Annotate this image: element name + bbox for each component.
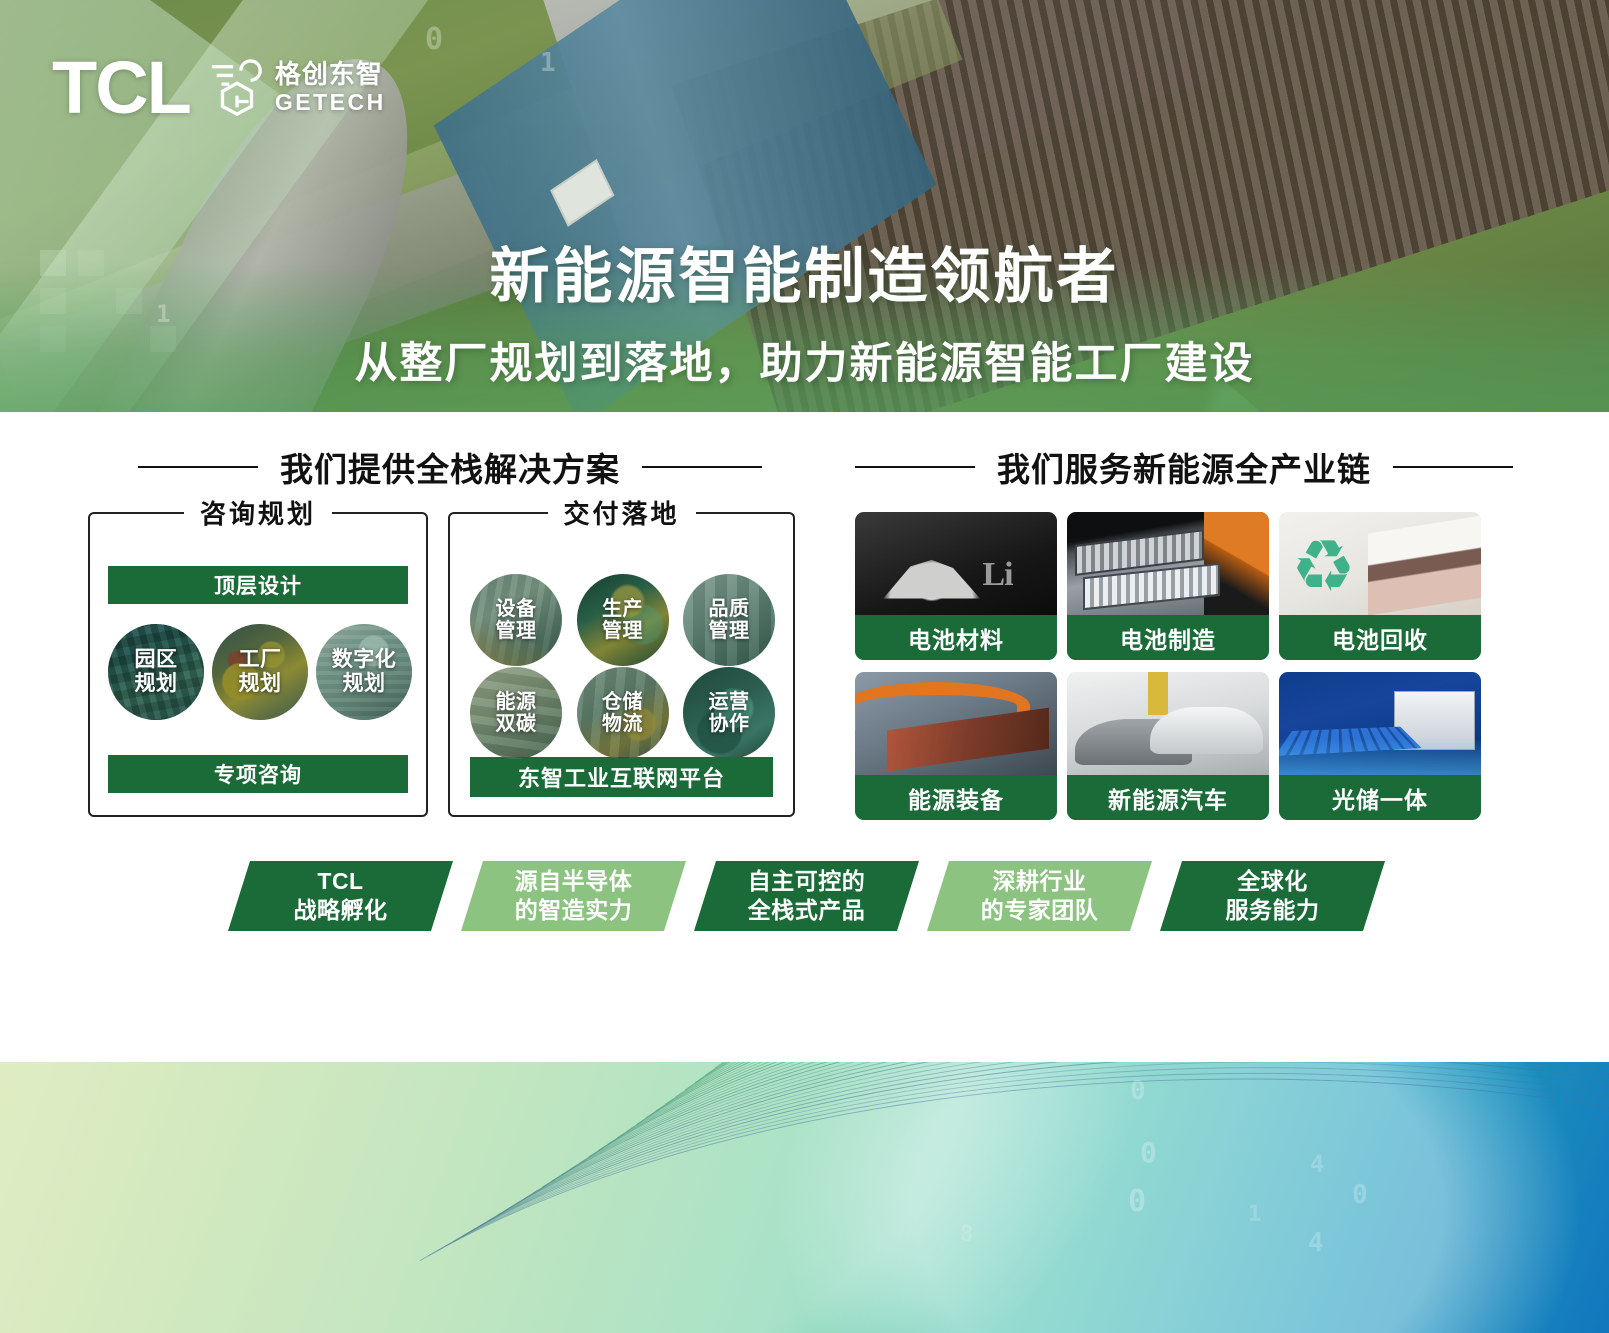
circle-production-management[interactable]: 生产 管理 [577, 574, 669, 666]
ribbon-expert-team-line1: 深耕行业 [993, 867, 1087, 896]
industry-tile-new-energy-vehicle[interactable]: 新能源汽车 [1067, 672, 1269, 820]
advantage-ribbon-row: TCL 战略孵化 源自半导体 的智造实力 自主可控的 全栈式产品 深耕行业 的专… [228, 861, 1385, 931]
industry-tile-battery-manufacturing-caption: 电池制造 [1067, 615, 1269, 660]
heading-rule-right [642, 466, 762, 468]
consulting-circle-row: 园区 规划 工厂 规划 数字化 规划 [108, 624, 412, 720]
ribbon-semiconductor-origin-line2: 的智造实力 [515, 896, 633, 925]
card-title-delivery: 交付落地 [547, 494, 695, 531]
circle-quality-management[interactable]: 品质 管理 [683, 574, 775, 666]
circle-park-planning[interactable]: 园区 规划 [108, 624, 204, 720]
circle-factory-planning[interactable]: 工厂 规划 [212, 624, 308, 720]
top-design-bar[interactable]: 顶层设计 [108, 566, 408, 604]
circle-production-management-line2: 管理 [602, 620, 643, 642]
delivery-circle-row-1: 设备 管理 生产 管理 品质 管理 [470, 574, 775, 666]
circle-digital-planning-line1: 数字化 [332, 648, 397, 671]
hero-banner: 0 1 1 TCL [0, 0, 1609, 412]
heading-rule-left [138, 466, 258, 468]
battery-manufacturing-photo [1067, 512, 1269, 615]
industry-tile-battery-recycling[interactable]: ♻ 电池回收 [1279, 512, 1481, 660]
circle-energy-dual-carbon-line1: 能源 [496, 691, 537, 713]
industrial-internet-platform-bar[interactable]: 东智工业互联网平台 [470, 757, 773, 797]
special-consulting-bar[interactable]: 专项咨询 [108, 755, 408, 793]
poster-page: 0 1 1 TCL [0, 0, 1609, 1333]
battery-material-photo [855, 512, 1057, 615]
solution-card-delivery: 交付落地 设备 管理 生产 管理 品质 管理 [448, 512, 795, 817]
heading-rule-left [855, 466, 975, 468]
industry-tile-energy-equipment-caption: 能源装备 [855, 775, 1057, 820]
ribbon-global-service-line1: 全球化 [1237, 867, 1308, 896]
circle-equipment-management[interactable]: 设备 管理 [470, 574, 562, 666]
circle-operations-collaboration-line2: 协作 [709, 713, 750, 735]
circle-factory-planning-line1: 工厂 [239, 648, 282, 671]
heading-rule-right [1393, 466, 1513, 468]
circle-digital-planning-line2: 规划 [343, 672, 386, 695]
tcl-logo-text: TCL [52, 54, 190, 122]
circle-warehouse-logistics-line1: 仓储 [602, 691, 643, 713]
ribbon-tcl-incubation-line2: 战略孵化 [294, 896, 388, 925]
circle-operations-collaboration[interactable]: 运营 协作 [683, 667, 775, 759]
getech-logo-cn: 格创东智 [275, 61, 386, 88]
industry-tile-battery-material-caption: 电池材料 [855, 615, 1057, 660]
circle-production-management-line1: 生产 [602, 598, 643, 620]
ribbon-semiconductor-origin[interactable]: 源自半导体 的智造实力 [461, 861, 686, 931]
getech-hex-g-logo-icon [208, 57, 266, 119]
hero-title: 新能源智能制造领航者 [0, 228, 1609, 315]
industry-tile-solar-storage[interactable]: 光储一体 [1279, 672, 1481, 820]
ribbon-tcl-incubation-line1: TCL [317, 867, 363, 896]
industry-tile-battery-recycling-caption: 电池回收 [1279, 615, 1481, 660]
industry-tile-solar-storage-caption: 光储一体 [1279, 775, 1481, 820]
circle-quality-management-line1: 品质 [709, 598, 750, 620]
circle-factory-planning-line2: 规划 [239, 672, 282, 695]
circle-equipment-management-line2: 管理 [496, 620, 537, 642]
hero-subtitle: 从整厂规划到落地，助力新能源智能工厂建设 [0, 329, 1609, 391]
footer-decorative-band: 0 0 0 4 0 4 1 8 [0, 1062, 1609, 1333]
circle-operations-collaboration-line1: 运营 [709, 691, 750, 713]
ribbon-expert-team-line2: 的专家团队 [981, 896, 1099, 925]
getech-logo: 格创东智 GETECH [208, 57, 386, 119]
delivery-circle-row-2: 能源 双碳 仓储 物流 运营 协作 [470, 667, 775, 759]
getech-logo-en: GETECH [275, 90, 386, 115]
industry-tile-new-energy-vehicle-caption: 新能源汽车 [1067, 775, 1269, 820]
ribbon-full-stack-products-line2: 全栈式产品 [748, 896, 866, 925]
new-energy-vehicle-photo [1067, 672, 1269, 775]
industry-tile-battery-material[interactable]: 电池材料 [855, 512, 1057, 660]
ribbon-full-stack-products[interactable]: 自主可控的 全栈式产品 [694, 861, 919, 931]
brand-logo-group[interactable]: TCL [52, 54, 386, 122]
ribbon-expert-team[interactable]: 深耕行业 的专家团队 [927, 861, 1152, 931]
battery-recycling-photo: ♻ [1279, 512, 1481, 615]
circle-quality-management-line2: 管理 [709, 620, 750, 642]
circle-energy-dual-carbon[interactable]: 能源 双碳 [470, 667, 562, 759]
circle-energy-dual-carbon-line2: 双碳 [496, 713, 537, 735]
ribbon-semiconductor-origin-line1: 源自半导体 [515, 867, 633, 896]
circle-digital-planning[interactable]: 数字化 规划 [316, 624, 412, 720]
card-title-consulting: 咨询规划 [184, 494, 332, 531]
solution-card-consulting: 咨询规划 顶层设计 园区 规划 工厂 规划 数字化 规划 [88, 512, 428, 817]
ribbon-full-stack-products-line1: 自主可控的 [748, 867, 866, 896]
industry-tile-grid: 电池材料 电池制造 ♻ 电池回收 能源装备 新能源汽车 光储一体 [855, 512, 1481, 820]
section-heading-solutions: 我们提供全栈解决方案 [138, 443, 762, 491]
section-heading-industries-label: 我们服务新能源全产业链 [997, 443, 1371, 491]
ribbon-global-service[interactable]: 全球化 服务能力 [1160, 861, 1385, 931]
industry-tile-energy-equipment[interactable]: 能源装备 [855, 672, 1057, 820]
recycle-symbol-icon: ♻ [1291, 531, 1384, 597]
hero-title-block: 新能源智能制造领航者 从整厂规划到落地，助力新能源智能工厂建设 [0, 228, 1609, 391]
circle-park-planning-line1: 园区 [135, 648, 178, 671]
solar-storage-photo [1279, 672, 1481, 775]
circle-equipment-management-line1: 设备 [496, 598, 537, 620]
circle-warehouse-logistics[interactable]: 仓储 物流 [577, 667, 669, 759]
industry-tile-battery-manufacturing[interactable]: 电池制造 [1067, 512, 1269, 660]
section-heading-solutions-label: 我们提供全栈解决方案 [280, 443, 620, 491]
energy-equipment-photo [855, 672, 1057, 775]
ribbon-global-service-line2: 服务能力 [1226, 896, 1320, 925]
ribbon-tcl-incubation[interactable]: TCL 战略孵化 [228, 861, 453, 931]
circle-park-planning-line2: 规划 [135, 672, 178, 695]
circle-warehouse-logistics-line2: 物流 [602, 713, 643, 735]
section-heading-industries: 我们服务新能源全产业链 [855, 443, 1513, 491]
